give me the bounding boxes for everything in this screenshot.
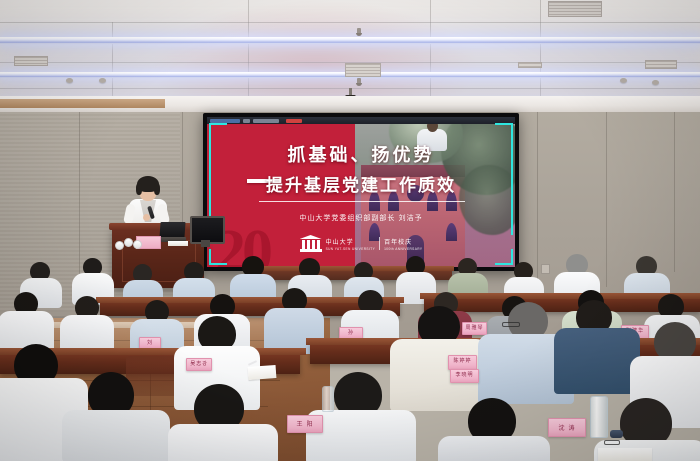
- toolbar-chip-icon[interactable]: [243, 119, 250, 123]
- air-vent: [548, 1, 602, 17]
- ceiling-downlight: [99, 78, 106, 83]
- notes-paper: [598, 448, 652, 461]
- ceiling-seam: [0, 22, 700, 23]
- logo-cn-block: 中山大学 SUN YAT-SEN UNIVERSITY: [326, 237, 376, 251]
- university-emblem-icon: [300, 235, 322, 252]
- lecture-hall-photo: 20 抓基础、扬优势 提升基层党建工作质效 中山大学党委组织部副部长 刘洁予: [0, 0, 700, 461]
- toolbar-chip-menu[interactable]: [210, 119, 240, 123]
- laptop-screen[interactable]: [159, 222, 185, 238]
- name-card: 李晓明: [450, 369, 479, 383]
- selection-edge-right: [511, 137, 513, 235]
- ceiling-seam: [540, 0, 541, 96]
- monitor-stand: [201, 240, 210, 247]
- toolbar-chip-record[interactable]: [286, 119, 302, 123]
- name-card: 沈 涛: [548, 418, 586, 437]
- water-bottle: [590, 396, 608, 438]
- name-card-text: 沈 涛: [549, 423, 585, 432]
- name-card: 王 阳: [287, 415, 323, 433]
- slide-title-line1: 抓基础、扬优势: [207, 141, 515, 167]
- name-card-text: 陈婷婷: [449, 357, 476, 364]
- ceiling-downlight: [652, 80, 659, 85]
- notes-paper: [248, 365, 277, 380]
- name-card: 陈婷婷: [448, 355, 477, 370]
- logo-university-name: 中山大学: [326, 237, 376, 246]
- name-card-text: 王 阳: [288, 419, 322, 428]
- sprinkler-head: [357, 28, 361, 35]
- desk-top: [420, 293, 700, 299]
- wall-outlet[interactable]: [541, 264, 550, 274]
- ceiling-downlight: [620, 78, 627, 83]
- selection-bracket-bottom-right: [495, 249, 513, 265]
- air-vent: [518, 62, 542, 68]
- logo-anniversary-en: 100th ANNIVERSARY: [384, 247, 422, 251]
- presenter-hair: [137, 176, 159, 192]
- projected-slide[interactable]: 20 抓基础、扬优势 提升基层党建工作质效 中山大学党委组织部副部长 刘洁予: [207, 117, 515, 267]
- ceiling-light-strip: [0, 37, 700, 44]
- papers-on-lectern: [168, 241, 188, 246]
- air-vent: [345, 63, 381, 77]
- name-card-text: 吴志강: [187, 360, 211, 367]
- wall-seam: [606, 112, 607, 287]
- water-cup: [115, 241, 124, 250]
- wall-seam: [674, 112, 675, 272]
- projection-screen-frame: 20 抓基础、扬优势 提升基层党建工作质效 中山大学党委组织部副部长 刘洁予: [203, 113, 519, 271]
- name-card: 吴志강: [186, 358, 212, 371]
- air-vent: [645, 60, 677, 69]
- wood-trim: [0, 99, 165, 108]
- ceiling-downlight: [66, 78, 73, 83]
- water-cup: [124, 238, 133, 247]
- water-bottle: [322, 386, 334, 412]
- chair-back: [126, 356, 178, 396]
- eyeglasses: [502, 322, 520, 327]
- name-card-text: 周雅琴: [463, 324, 486, 331]
- selection-bracket-top-left: [209, 123, 227, 139]
- sprinkler-head: [357, 78, 361, 85]
- slide-title-line2: 提升基层党建工作质效: [207, 171, 515, 196]
- name-card-text: 刘: [140, 339, 160, 346]
- selection-bracket-bottom-left: [209, 249, 227, 265]
- powerpoint-toolbar[interactable]: [207, 117, 515, 124]
- toolbar-chip-slideshow[interactable]: [253, 119, 279, 123]
- slide-divider-rule: [259, 201, 465, 202]
- eyeglasses: [604, 440, 620, 445]
- logo-anniversary: 百年校庆: [384, 237, 422, 246]
- water-cup: [133, 240, 142, 249]
- slide-presenter-credit: 中山大学党委组织部副部长 刘洁予: [207, 213, 515, 223]
- university-logo: 中山大学 SUN YAT-SEN UNIVERSITY 百年校庆 100th A…: [207, 235, 515, 252]
- logo-anniv-block: 百年校庆 100th ANNIVERSARY: [384, 237, 422, 251]
- logo-divider: [379, 237, 380, 250]
- name-card-text: 李晓明: [451, 371, 478, 378]
- air-vent: [14, 56, 48, 66]
- name-card-text: 孙: [340, 329, 362, 336]
- logo-university-name-en: SUN YAT-SEN UNIVERSITY: [326, 247, 376, 251]
- name-card: 周雅琴: [462, 322, 487, 335]
- tea-tumbler: [610, 430, 623, 438]
